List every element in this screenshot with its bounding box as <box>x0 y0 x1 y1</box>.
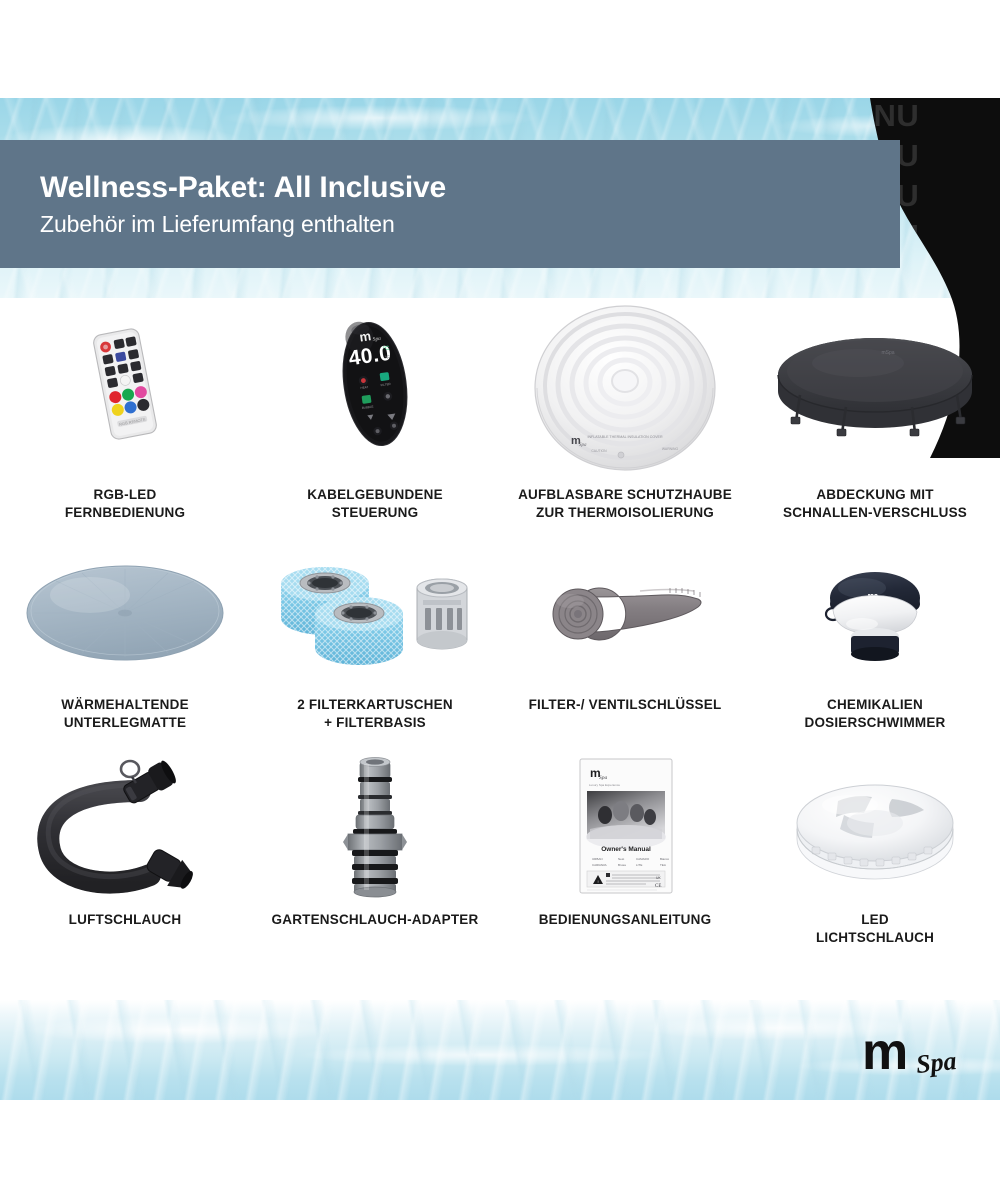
product-label: FILTER-/ VENTILSCHLÜSSEL <box>523 696 728 736</box>
svg-text:Owner's Manual: Owner's Manual <box>601 846 651 853</box>
product-item-air-hose: LUFTSCHLAUCH <box>0 740 250 955</box>
product-row-1: RGB REMOTE RGB-LED FERNBEDIENUNG m <box>0 282 1000 530</box>
product-label: AUFBLASBARE SCHUTZHAUBE ZUR THERMOISOLIE… <box>512 486 738 526</box>
product-art <box>500 530 750 696</box>
air-hose-icon <box>20 751 230 901</box>
product-label: KABELGEBUNDENE STEUERUNG <box>301 486 449 526</box>
product-art <box>0 530 250 696</box>
ground-mat-icon <box>20 553 230 673</box>
svg-text:WARNING: WARNING <box>662 447 679 451</box>
brand-logo-m: m <box>862 1023 906 1081</box>
product-item-inflatable-cover: m Spa INFLATABLE THERMAL INSULATION COVE… <box>500 282 750 530</box>
product-grid: RGB REMOTE RGB-LED FERNBEDIENUNG m <box>0 282 1000 955</box>
svg-text:CE: CE <box>655 884 661 889</box>
svg-text:CARRARA: CARRARA <box>592 863 607 867</box>
header-banner: Wellness-Paket: All Inclusive Zubehör im… <box>0 140 900 268</box>
filter-cartridges-icon <box>265 548 485 678</box>
led-light-strip-icon <box>780 771 970 881</box>
product-item-led-light-strip: LED LICHTSCHLAUCH <box>750 740 1000 955</box>
wired-control-panel-icon: m Spa 40.0 °C °F HEAT FILTER BUBBLE <box>310 304 440 464</box>
product-art: m Spa 40.0 °C °F HEAT FILTER BUBBLE <box>250 282 500 486</box>
product-art <box>750 740 1000 911</box>
product-art <box>0 740 250 911</box>
product-label: 2 FILTERKARTUSCHEN + FILTERBASIS <box>291 696 459 736</box>
svg-text:UK: UK <box>656 876 661 880</box>
svg-text:Luxury Spa Experience: Luxury Spa Experience <box>589 783 620 787</box>
product-label: LED LICHTSCHLAUCH <box>810 911 940 951</box>
svg-text:Brusa: Brusa <box>618 863 626 867</box>
product-item-filter-valve-wrench: FILTER-/ VENTILSCHLÜSSEL <box>500 530 750 740</box>
svg-text:mSpa: mSpa <box>881 350 894 356</box>
svg-text:URBANU: URBANU <box>810 98 919 133</box>
svg-text:CAUTION: CAUTION <box>591 449 607 453</box>
product-label: BEDIENUNGSANLEITUNG <box>533 911 718 951</box>
product-label: WÄRMEHALTENDE UNTERLEGMATTE <box>55 696 195 736</box>
owners-manual-icon: m Spa Luxury Spa Experience Owner's Manu… <box>560 751 690 901</box>
svg-text:CAMARO: CAMARO <box>636 857 650 861</box>
product-art: mSpa <box>750 282 1000 486</box>
product-art: m Spa INFLATABLE THERMAL INSULATION COVE… <box>500 282 750 486</box>
product-label: GARTENSCHLAUCH-ADAPTER <box>266 911 485 951</box>
chemical-dispenser-float-icon: m Spa <box>800 548 950 678</box>
product-row-2: WÄRMEHALTENDE UNTERLEGMATTE <box>0 530 1000 740</box>
rgb-led-remote-icon: RGB REMOTE <box>60 309 190 459</box>
product-art <box>250 530 500 696</box>
product-item-chemical-dispenser: m Spa CHEMIKALIEN DOSIERSCHWIMMER <box>750 530 1000 740</box>
product-item-buckle-cover: mSpa ABDECKUNG MIT SCHNALLEN-VERSCHLUSS <box>750 282 1000 530</box>
svg-text:Spa: Spa <box>579 443 587 448</box>
inflatable-thermal-cover-icon: m Spa INFLATABLE THERMAL INSULATION COVE… <box>515 292 735 477</box>
product-label: ABDECKUNG MIT SCHNALLEN-VERSCHLUSS <box>777 486 973 526</box>
svg-text:°F: °F <box>385 355 391 362</box>
svg-text:INFLATABLE THERMAL INSULATION: INFLATABLE THERMAL INSULATION COVER <box>587 435 662 439</box>
mspa-brand-logo: m Spa <box>862 1026 972 1078</box>
svg-text:TEA: TEA <box>660 863 666 867</box>
svg-text:!: ! <box>597 879 598 884</box>
product-art: m Spa Luxury Spa Experience Owner's Manu… <box>500 740 750 911</box>
brand-logo-spa: Spa <box>915 1046 958 1080</box>
product-item-owners-manual: m Spa Luxury Spa Experience Owner's Manu… <box>500 740 750 955</box>
banner-title: Wellness-Paket: All Inclusive <box>40 171 900 206</box>
svg-text:URBAN: URBAN <box>592 857 603 861</box>
product-label: RGB-LED FERNBEDIENUNG <box>59 486 191 526</box>
product-item-wired-control: m Spa 40.0 °C °F HEAT FILTER BUBBLE <box>250 282 500 530</box>
product-item-filter-cartridges: 2 FILTERKARTUSCHEN + FILTERBASIS <box>250 530 500 740</box>
garden-hose-adapter-icon <box>315 748 435 903</box>
product-label: LUFTSCHLAUCH <box>63 911 188 951</box>
banner-subtitle: Zubehör im Lieferumfang enthalten <box>40 211 900 237</box>
product-item-garden-hose-adapter: GARTENSCHLAUCH-ADAPTER <box>250 740 500 955</box>
svg-text:Spa: Spa <box>599 775 608 781</box>
product-item-ground-mat: WÄRMEHALTENDE UNTERLEGMATTE <box>0 530 250 740</box>
svg-text:Bianco: Bianco <box>660 857 670 861</box>
svg-text:LITE: LITE <box>636 863 642 867</box>
product-art <box>250 740 500 911</box>
product-row-3: LUFTSCHLAUCH <box>0 740 1000 955</box>
product-art: RGB REMOTE <box>0 282 250 486</box>
product-item-rgb-led-remote: RGB REMOTE RGB-LED FERNBEDIENUNG <box>0 282 250 530</box>
buckle-cover-icon: mSpa <box>760 309 990 459</box>
water-texture-bottom <box>0 1000 1000 1100</box>
product-art: m Spa <box>750 530 1000 696</box>
svg-text:Spa: Spa <box>372 336 381 343</box>
filter-valve-wrench-icon <box>520 563 730 663</box>
product-label: CHEMIKALIEN DOSIERSCHWIMMER <box>799 696 952 736</box>
svg-text:Nest: Nest <box>618 857 624 861</box>
infographic-page: URBANU URBANU URBANU URBANU URBANU URBAN… <box>0 0 1000 1200</box>
